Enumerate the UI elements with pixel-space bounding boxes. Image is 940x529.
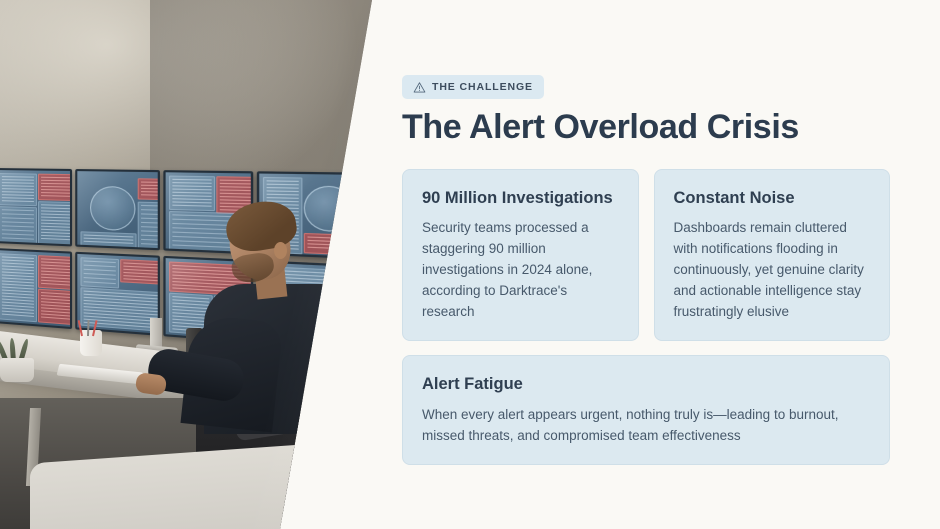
slide-root: THE CHALLENGE The Alert Overload Crisis … [0, 0, 940, 529]
card-investigations: 90 Million Investigations Security teams… [402, 169, 639, 341]
card-row-top: 90 Million Investigations Security teams… [402, 169, 890, 341]
card-body: When every alert appears urgent, nothing… [422, 404, 870, 446]
analyst-ear [274, 242, 287, 259]
monitor-stand [150, 318, 162, 348]
card-body: Dashboards remain cluttered with notific… [674, 217, 871, 322]
challenge-badge-label: THE CHALLENGE [432, 81, 533, 93]
content-panel: THE CHALLENGE The Alert Overload Crisis … [402, 0, 890, 529]
security-analyst [196, 196, 346, 426]
monitor [0, 248, 72, 329]
monitor [0, 168, 72, 246]
card-constant-noise: Constant Noise Dashboards remain clutter… [654, 169, 891, 341]
card-alert-fatigue: Alert Fatigue When every alert appears u… [402, 355, 890, 465]
warning-triangle-icon [413, 81, 426, 94]
card-title: 90 Million Investigations [422, 187, 619, 209]
challenge-cards: 90 Million Investigations Security teams… [402, 169, 890, 465]
challenge-badge: THE CHALLENGE [402, 75, 544, 99]
monitor [75, 169, 159, 250]
hero-photo [0, 0, 380, 529]
card-title: Constant Noise [674, 187, 871, 209]
card-body: Security teams processed a staggering 90… [422, 217, 619, 322]
pen-cup [78, 326, 98, 336]
desk-plant [0, 338, 38, 382]
card-title: Alert Fatigue [422, 373, 870, 395]
page-title: The Alert Overload Crisis [402, 105, 799, 149]
